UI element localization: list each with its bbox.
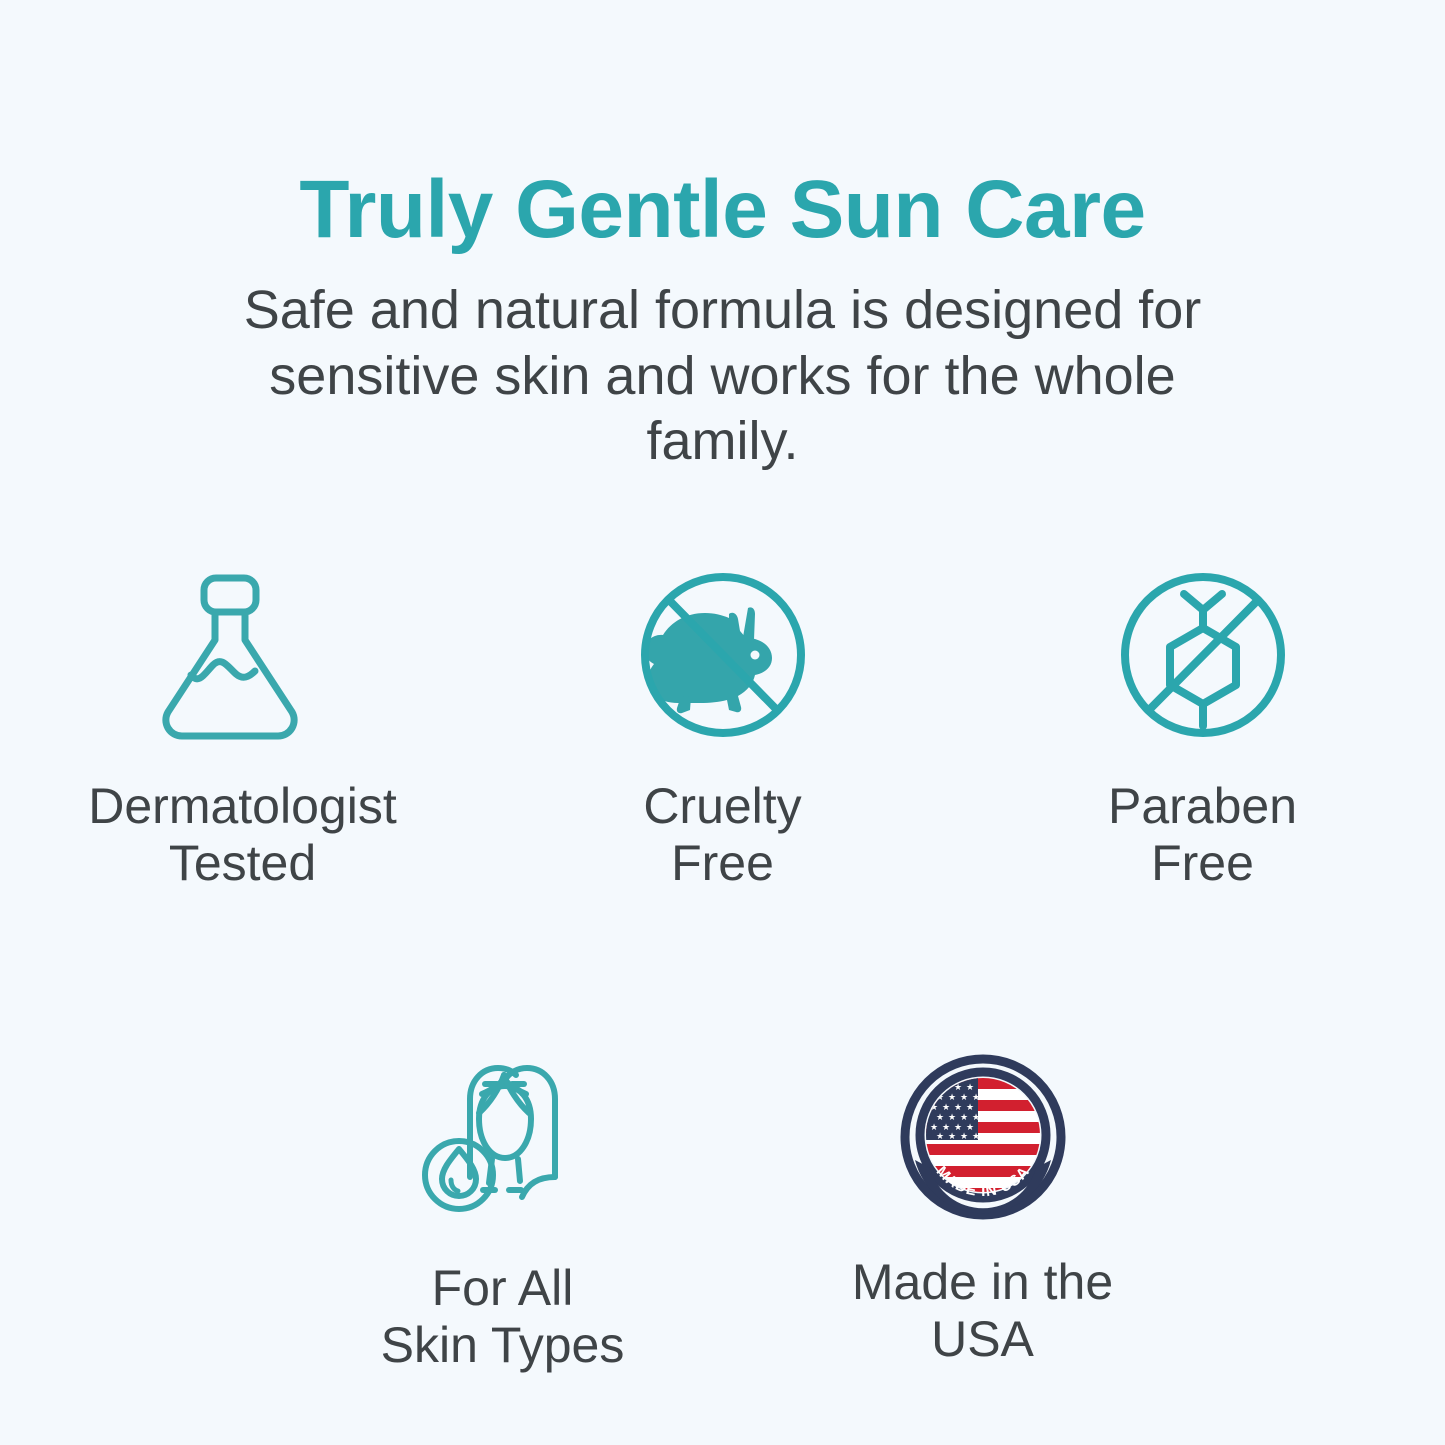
benefit-made-in-usa: ★★ ★★ ★★ ★★ ★★ ★★ ★★ ★★ ★★ ★★ ★★ bbox=[813, 1042, 1153, 1368]
sun-care-benefits-panel: Truly Gentle Sun Care Safe and natural f… bbox=[0, 0, 1445, 1445]
benefit-row-top: Dermatologist Tested bbox=[0, 560, 1445, 892]
svg-text:★: ★ bbox=[959, 1131, 967, 1141]
svg-text:★: ★ bbox=[935, 1131, 943, 1141]
face-droplet-icon bbox=[408, 1042, 598, 1232]
made-in-usa-badge-icon: ★★ ★★ ★★ ★★ ★★ ★★ ★★ ★★ ★★ ★★ ★★ bbox=[888, 1042, 1078, 1232]
no-paraben-molecule-icon bbox=[1108, 560, 1298, 750]
svg-text:★: ★ bbox=[965, 1082, 973, 1092]
header: Truly Gentle Sun Care Safe and natural f… bbox=[0, 168, 1445, 475]
svg-text:★: ★ bbox=[947, 1092, 955, 1102]
no-rabbit-icon bbox=[628, 560, 818, 750]
svg-text:★: ★ bbox=[959, 1112, 967, 1122]
benefit-label: Dermatologist Tested bbox=[88, 778, 396, 892]
flask-check-icon bbox=[148, 560, 338, 750]
benefit-paraben-free: Paraben Free bbox=[1033, 560, 1373, 892]
svg-text:★: ★ bbox=[971, 1131, 979, 1141]
benefit-label: For All Skin Types bbox=[381, 1260, 625, 1374]
benefit-dermatologist-tested: Dermatologist Tested bbox=[73, 560, 413, 892]
benefit-label: Cruelty Free bbox=[643, 778, 801, 892]
svg-text:★: ★ bbox=[965, 1102, 973, 1112]
benefit-row-bottom: For All Skin Types bbox=[0, 1042, 1445, 1374]
svg-text:★: ★ bbox=[959, 1092, 967, 1102]
svg-text:★: ★ bbox=[971, 1112, 979, 1122]
benefit-badge-grid: Dermatologist Tested bbox=[0, 560, 1445, 1374]
svg-text:★: ★ bbox=[941, 1102, 949, 1112]
benefit-cruelty-free: Cruelty Free bbox=[553, 560, 893, 892]
page-subtitle: Safe and natural formula is designed for… bbox=[208, 278, 1238, 476]
benefit-label: Made in the USA bbox=[852, 1254, 1113, 1368]
svg-text:★: ★ bbox=[971, 1092, 979, 1102]
svg-text:★: ★ bbox=[947, 1112, 955, 1122]
svg-text:★: ★ bbox=[947, 1131, 955, 1141]
page-title: Truly Gentle Sun Care bbox=[0, 168, 1445, 252]
svg-text:★: ★ bbox=[935, 1112, 943, 1122]
svg-text:★: ★ bbox=[953, 1102, 961, 1112]
benefit-for-all-skin-types: For All Skin Types bbox=[333, 1042, 673, 1374]
benefit-label: Paraben Free bbox=[1108, 778, 1297, 892]
